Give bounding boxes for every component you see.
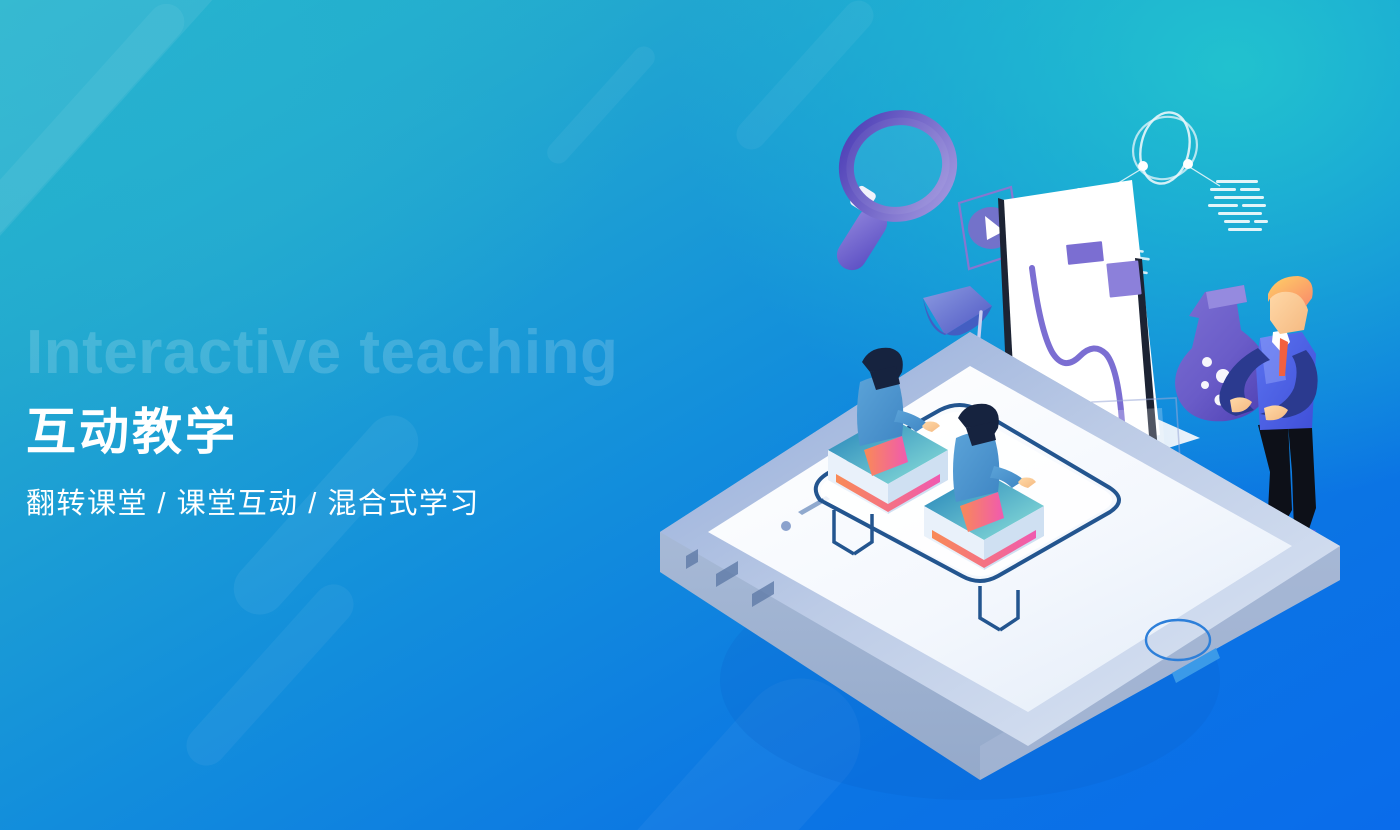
- bg-stripe-bottom-left: [178, 576, 362, 774]
- magnifier-icon: [831, 104, 962, 276]
- atom-icon: [1121, 104, 1210, 192]
- camera-dot: [781, 521, 791, 531]
- text-lines-right: [1208, 180, 1268, 231]
- bg-stripe-topleft-thin: [0, 0, 192, 244]
- banner-root: Interactive teaching 互动教学 翻转课堂 / 课堂互动 / …: [0, 0, 1400, 830]
- illustration: [640, 80, 1400, 800]
